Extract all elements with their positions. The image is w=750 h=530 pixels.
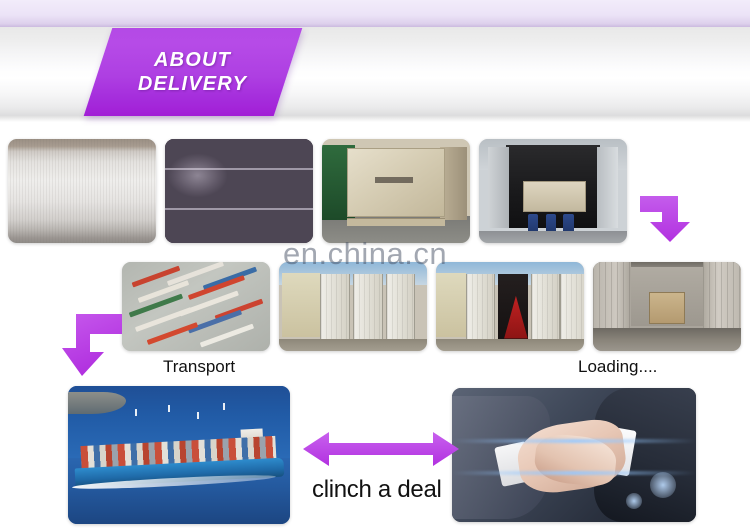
handshake-card (452, 388, 696, 522)
mesh-roll-image (8, 139, 156, 243)
banner-title-line-1: ABOUT (138, 48, 247, 72)
container-yard-image (122, 262, 270, 351)
banner-title-line-2: DELIVERY (138, 72, 247, 96)
delivery-infographic: ABOUT DELIVERY (0, 0, 750, 530)
wooden-crate-image (322, 139, 470, 243)
truck-loading-card (479, 139, 627, 243)
double-headed-arrow-icon (303, 430, 459, 468)
about-delivery-banner: ABOUT DELIVERY (84, 28, 303, 116)
cargo-ship-image (68, 386, 290, 524)
container-stack-card-1 (279, 262, 427, 351)
container-loading-image (436, 262, 584, 351)
container-stack-image-1 (279, 262, 427, 351)
container-interior-image (593, 262, 741, 351)
loading-label: Loading.... (578, 357, 657, 377)
clinch-a-deal-label: clinch a deal (312, 476, 442, 504)
header: ABOUT DELIVERY (0, 0, 750, 128)
transport-label: Transport (163, 357, 235, 377)
mesh-roll-card (8, 139, 156, 243)
top-strip (0, 0, 750, 27)
elbow-arrow-down-icon (640, 192, 702, 254)
container-loading-card (436, 262, 584, 351)
wooden-crate-card (322, 139, 470, 243)
handshake-image (452, 388, 696, 522)
cargo-ship-card (68, 386, 290, 524)
rolls-stack-card (165, 139, 313, 243)
elbow-arrow-down-left-icon (60, 310, 130, 380)
truck-loading-image (479, 139, 627, 243)
header-band-shadow (0, 116, 750, 122)
rolls-stack-image (165, 139, 313, 243)
container-interior-card (593, 262, 741, 351)
container-yard-card (122, 262, 270, 351)
